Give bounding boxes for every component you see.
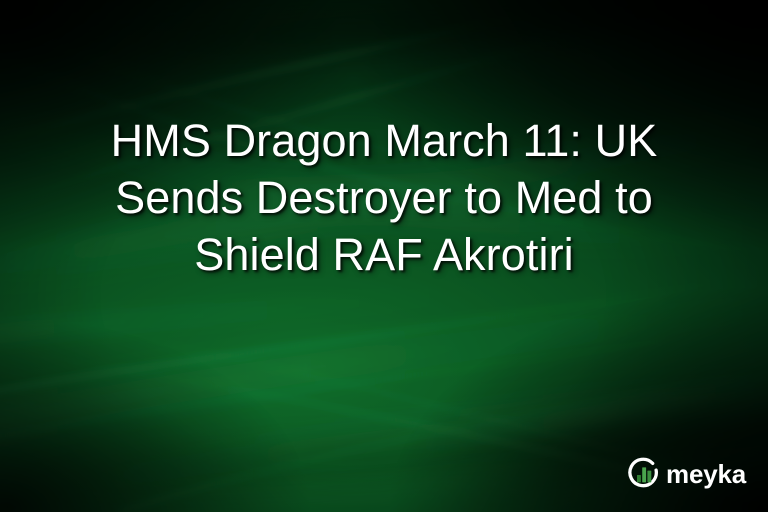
title-block: HMS Dragon March 11: UK Sends Destroyer … <box>0 112 768 283</box>
meyka-wordmark: meyka <box>666 461 746 488</box>
banner-canvas: HMS Dragon March 11: UK Sends Destroyer … <box>0 0 768 512</box>
meyka-logo[interactable]: meyka <box>627 457 746 491</box>
meyka-circle-bars-logo-icon <box>627 457 661 491</box>
page-title: HMS Dragon March 11: UK Sends Destroyer … <box>34 112 734 283</box>
